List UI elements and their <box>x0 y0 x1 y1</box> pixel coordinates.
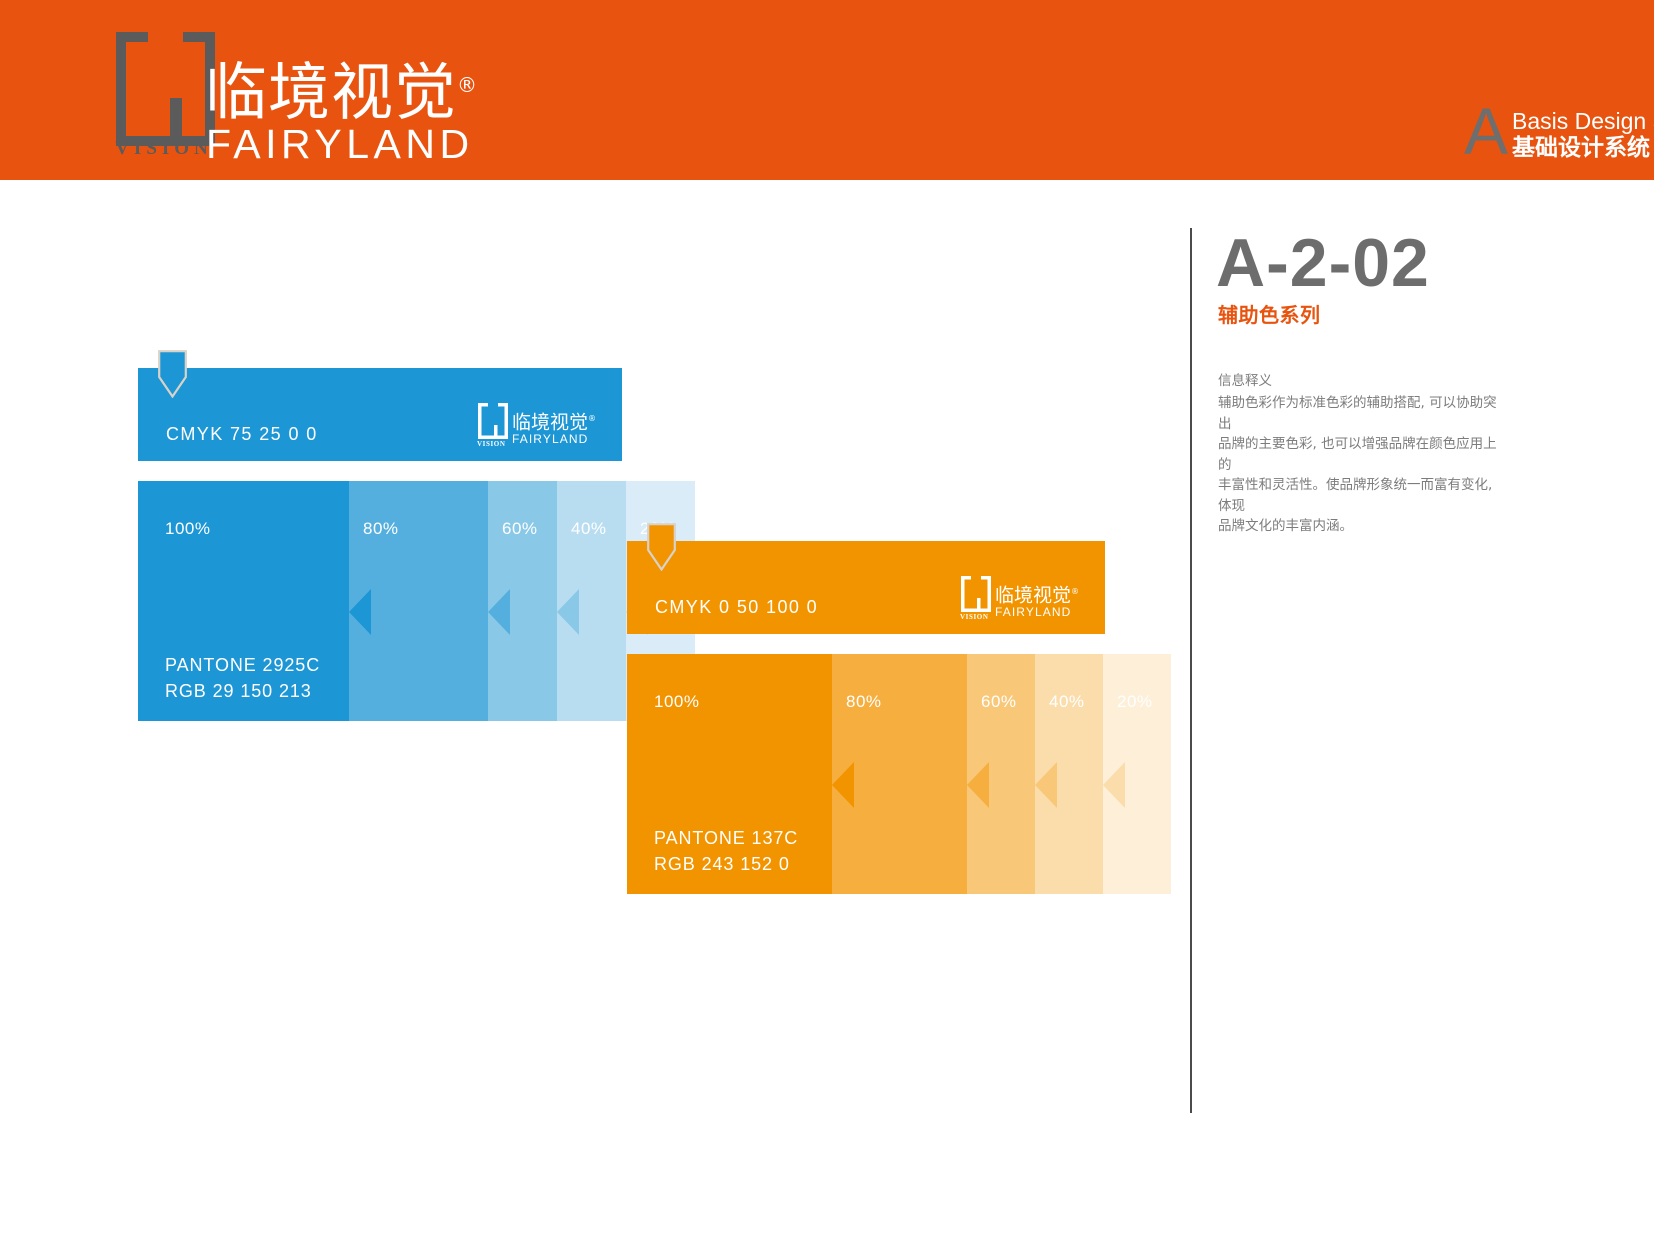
pantone-label-blue: PANTONE 2925C <box>165 655 320 676</box>
chevron-notch-icon <box>1103 762 1125 808</box>
section-letter: A <box>1464 98 1508 164</box>
tint-percent-label: 60% <box>502 519 538 539</box>
brand-vision-text: VISION <box>108 138 220 160</box>
info-heading: 信息释义 <box>1218 373 1272 390</box>
tint-percent-label: 80% <box>363 519 399 539</box>
mini-brand-words: 临境视觉®FAIRYLAND <box>512 408 596 447</box>
tint-column-blue-100: 100%PANTONE 2925CRGB 29 150 213 <box>138 481 349 721</box>
tint-percent-label: 20% <box>1117 692 1153 712</box>
cmyk-label-orange: CMYK 0 50 100 0 <box>655 597 818 618</box>
mini-brand-english: FAIRYLAND <box>512 433 596 446</box>
mini-brand-chinese: 临境视觉® <box>512 408 596 433</box>
tint-percent-label: 100% <box>165 519 210 539</box>
tint-column-blue-40: 40% <box>557 481 626 721</box>
chevron-notch-icon <box>349 589 371 635</box>
rgb-label-blue: RGB 29 150 213 <box>165 681 312 702</box>
tint-percent-label: 100% <box>654 692 699 712</box>
info-body: 辅助色彩作为标准色彩的辅助搭配, 可以协助突出 品牌的主要色彩, 也可以增强品牌… <box>1218 393 1508 537</box>
mini-registered-mark-icon: ® <box>1071 587 1079 596</box>
bookmark-pin-icon <box>647 523 676 571</box>
chevron-notch-icon <box>1035 762 1057 808</box>
chevron-notch-icon <box>832 762 854 808</box>
cmyk-label-blue: CMYK 75 25 0 0 <box>166 424 318 445</box>
tint-column-orange-20: 20% <box>1103 654 1171 894</box>
section-title-en: Basis Design System <box>1512 108 1654 134</box>
brand-chinese-characters: 临境视觉 <box>205 56 457 129</box>
tint-percent-label: 40% <box>1049 692 1085 712</box>
chevron-notch-icon <box>488 589 510 635</box>
brand-chinese-name: 临境视觉® <box>205 52 478 126</box>
mini-registered-mark-icon: ® <box>588 414 596 423</box>
tint-column-blue-60: 60% <box>488 481 557 721</box>
tint-column-orange-100: 100%PANTONE 137CRGB 243 152 0 <box>627 654 832 894</box>
registered-mark-icon: ® <box>457 73 478 97</box>
mini-brand-chinese: 临境视觉® <box>995 581 1079 606</box>
brand-english-name: FAIRYLAND <box>206 122 474 166</box>
section-title-cn: 基础设计系统 <box>1512 135 1650 161</box>
tint-percent-label: 60% <box>981 692 1017 712</box>
tint-column-orange-40: 40% <box>1035 654 1103 894</box>
tint-ramp-orange: 100%PANTONE 137CRGB 243 152 080%60%40%20… <box>627 654 1105 894</box>
page-subtitle: 辅助色系列 <box>1218 303 1321 327</box>
tint-ramp-blue: 100%PANTONE 2925CRGB 29 150 21380%60%40%… <box>138 481 622 721</box>
tint-percent-label: 40% <box>571 519 607 539</box>
tint-column-orange-60: 60% <box>967 654 1035 894</box>
swatch-header-orange: CMYK 0 50 100 0VISION临境视觉®FAIRYLAND <box>627 541 1105 634</box>
tint-column-orange-80: 80% <box>832 654 967 894</box>
tint-column-blue-80: 80% <box>349 481 488 721</box>
page-code: A-2-02 <box>1216 226 1430 300</box>
mini-bracket-logo-icon: VISION <box>476 401 510 447</box>
mini-brand-logo-orange: VISION临境视觉®FAIRYLAND <box>959 574 1079 620</box>
page-header-bar: VISION 临境视觉® FAIRYLAND A Basis Design Sy… <box>0 0 1654 180</box>
chevron-notch-icon <box>557 589 579 635</box>
bookmark-pin-icon <box>158 350 187 398</box>
swatch-header-blue: CMYK 75 25 0 0VISION临境视觉®FAIRYLAND <box>138 368 622 461</box>
tint-percent-label: 80% <box>846 692 882 712</box>
mini-brand-words: 临境视觉®FAIRYLAND <box>995 581 1079 620</box>
rgb-label-orange: RGB 243 152 0 <box>654 854 790 875</box>
mini-brand-english: FAIRYLAND <box>995 606 1079 619</box>
mini-brand-logo-blue: VISION临境视觉®FAIRYLAND <box>476 401 596 447</box>
mini-bracket-logo-icon: VISION <box>959 574 993 620</box>
chevron-notch-icon <box>967 762 989 808</box>
pantone-label-orange: PANTONE 137C <box>654 828 798 849</box>
side-panel-divider <box>1190 228 1192 1113</box>
